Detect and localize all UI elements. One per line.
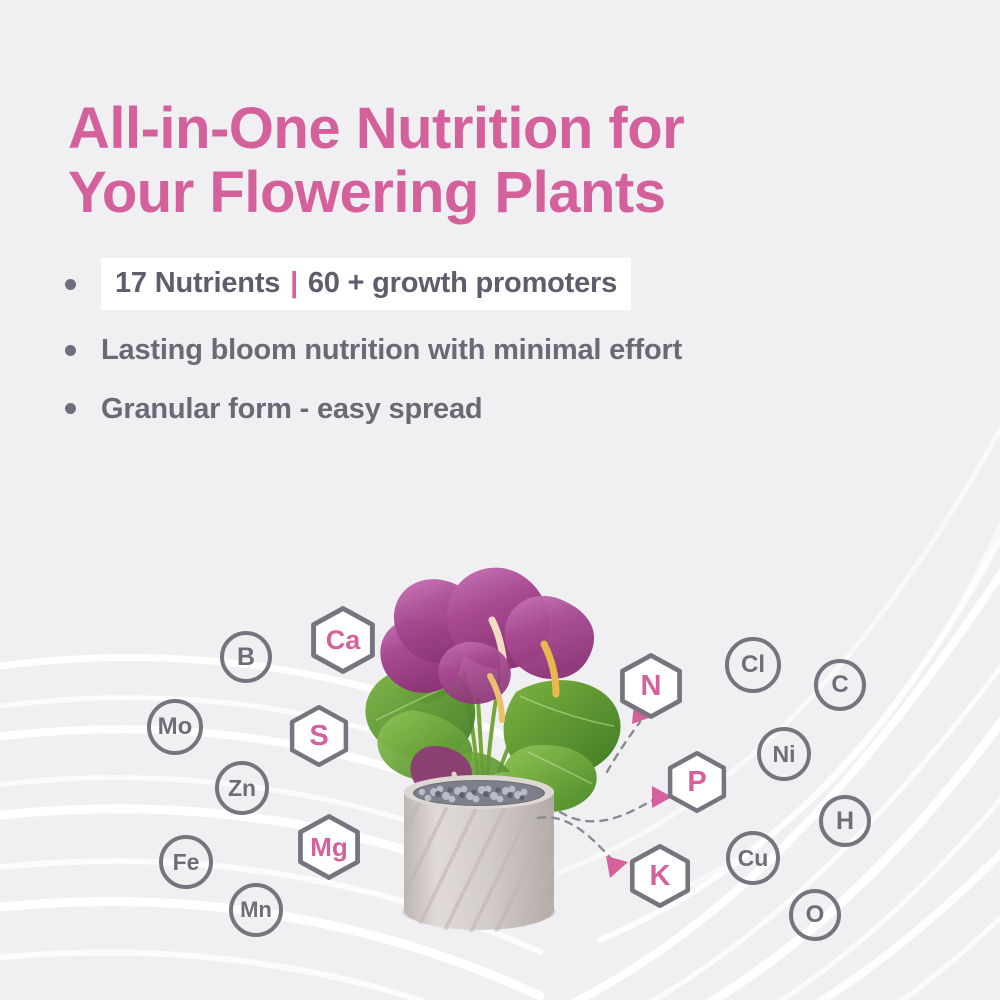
nutrient-badge-mg: Mg [295, 813, 363, 881]
nutrient-badge-h: H [819, 795, 871, 847]
bullet-dot-icon [65, 403, 76, 414]
feature-text-part2: 60 + growth promoters [300, 267, 617, 299]
bullet-dot-icon [65, 279, 76, 290]
nutrient-badge-n: N [617, 652, 685, 720]
nutrient-label: Cl [741, 653, 765, 677]
nutrient-label: O [806, 903, 825, 927]
list-item: Granular form - easy spread [60, 391, 920, 427]
nutrient-label: Cu [738, 847, 769, 870]
poster-canvas: All-in-One Nutrition for Your Flowering … [0, 0, 1000, 1000]
nutrient-badge-ca: Ca [308, 605, 378, 675]
nutrient-badge-mo: Mo [147, 699, 203, 755]
nutrient-badge-mn: Mn [229, 883, 283, 937]
nutrient-label: H [836, 809, 854, 834]
list-item: 17 Nutrients | 60 + growth promoters [60, 258, 920, 310]
nutrient-label: S [309, 722, 328, 751]
feature-text-separator: | [288, 267, 300, 299]
nutrient-label: C [831, 673, 848, 697]
bullet-dot-icon [65, 345, 76, 356]
nutrient-label: Mg [310, 834, 348, 860]
nutrient-label: Mo [158, 715, 193, 739]
nutrient-badge-cu: Cu [726, 831, 780, 885]
title-line-2: Your Flowering Plants [68, 161, 888, 225]
page-title: All-in-One Nutrition for Your Flowering … [68, 97, 888, 225]
nutrient-label: Zn [228, 777, 256, 800]
nutrient-label: N [641, 672, 662, 701]
nutrient-label: B [237, 645, 255, 670]
feature-list: 17 Nutrients | 60 + growth promoters Las… [60, 258, 920, 449]
feature-text: Lasting bloom nutrition with minimal eff… [101, 332, 682, 368]
nutrient-badge-b: B [220, 631, 272, 683]
nutrient-badge-cl: Cl [725, 637, 781, 693]
nutrient-badge-o: O [789, 889, 841, 941]
nutrient-badge-k: K [627, 843, 693, 909]
nutrient-label: Ca [326, 627, 361, 654]
plant-illustration [352, 560, 652, 960]
feature-text: Granular form - easy spread [101, 391, 482, 427]
nutrient-badge-c: C [814, 659, 866, 711]
feature-text-highlighted: 17 Nutrients | 60 + growth promoters [101, 258, 631, 310]
nutrient-badge-p: P [665, 750, 729, 814]
nutrient-badge-zn: Zn [215, 761, 269, 815]
list-item: Lasting bloom nutrition with minimal eff… [60, 332, 920, 368]
nutrient-badge-s: S [287, 704, 351, 768]
nutrient-label: Ni [773, 743, 796, 766]
nutrient-badge-fe: Fe [159, 835, 213, 889]
nutrient-label: Mn [240, 899, 272, 921]
nutrient-badge-ni: Ni [757, 727, 811, 781]
title-line-1: All-in-One Nutrition for [68, 96, 684, 161]
nutrient-label: P [687, 768, 706, 797]
feature-text-part1: 17 Nutrients [115, 267, 288, 299]
nutrient-label: K [650, 862, 671, 891]
nutrient-label: Fe [173, 851, 200, 874]
